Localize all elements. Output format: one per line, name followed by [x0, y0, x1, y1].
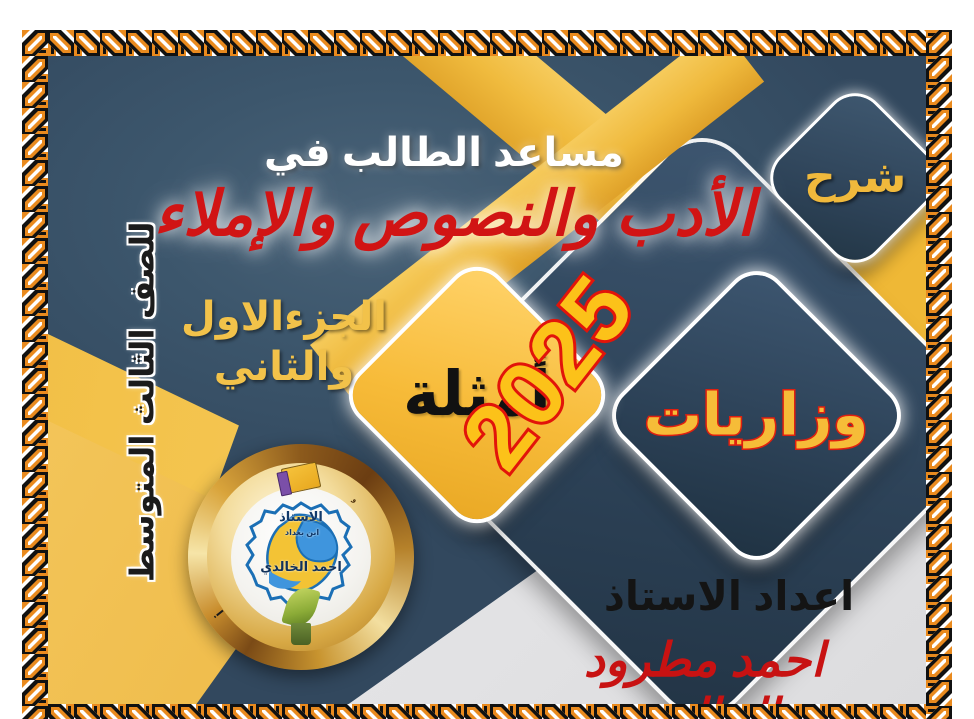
inkwell-icon [291, 623, 311, 645]
author-name: احمد مطرود الخالدي [504, 632, 904, 719]
badge-wazariyat[interactable]: وزاريات [649, 308, 864, 523]
grade-label: للصف الثالث المتوسط [123, 222, 162, 522]
subtitle-parts: الجزءالاول والثاني [154, 292, 414, 392]
title-line-2: الأدب والنصوص والإملاء [104, 177, 804, 250]
emblem-city: ابن بغداد [285, 529, 319, 538]
poster-stage: مساعد الطالب في الأدب والنصوص والإملاء ا… [0, 0, 974, 719]
badge-sharh[interactable]: شرح [789, 112, 921, 244]
poster-canvas: مساعد الطالب في الأدب والنصوص والإملاء ا… [44, 52, 930, 719]
school-emblem: https:/t.me Grup AMi وزارة التربية العام… [188, 444, 414, 670]
emblem-name: احمد الخالدي [231, 559, 371, 575]
badge-sharh-label: شرح [804, 156, 906, 200]
author-role: اعداد الاستاذ [564, 572, 894, 620]
badge-wazariyat-label: وزاريات [644, 387, 869, 445]
badge-wazariyat-shape: وزاريات [604, 263, 908, 567]
title-line-1: مساعد الطالب في [164, 130, 724, 176]
emblem-gold-ring: https:/t.me Grup AMi وزارة التربية العام… [207, 463, 395, 651]
emblem-title: الاستاذ [231, 509, 371, 525]
